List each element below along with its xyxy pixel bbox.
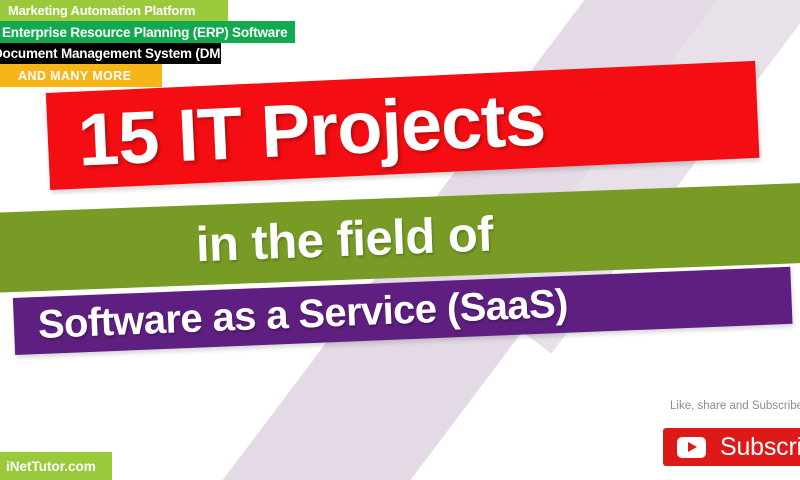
headline-line-3-text: Software as a Service (SaaS) (37, 282, 569, 348)
feature-item-document-management: Document Management System (DMS) (0, 43, 221, 64)
subscribe-button[interactable]: Subscribe (663, 428, 800, 466)
feature-item-label: Document Management System (DMS) (0, 46, 233, 61)
site-watermark-label: iNetTutor.com (6, 459, 96, 474)
headline-line-2-text: in the field of (195, 206, 494, 273)
headline-line-1-text: 15 IT Projects (76, 76, 547, 182)
site-watermark: iNetTutor.com (0, 452, 112, 480)
feature-item-erp-software: Enterprise Resource Planning (ERP) Softw… (0, 21, 295, 43)
feature-item-marketing-automation: Marketing Automation Platform (0, 0, 228, 21)
thumbnail-canvas: Marketing Automation Platform Enterprise… (0, 0, 800, 480)
feature-item-and-many-more: AND MANY MORE (0, 64, 162, 87)
subscribe-caption: Like, share and Subscribe (670, 400, 800, 412)
feature-item-label: Enterprise Resource Planning (ERP) Softw… (2, 25, 287, 40)
youtube-play-icon (677, 437, 706, 458)
subscribe-button-label: Subscribe (720, 433, 800, 462)
feature-item-label: Marketing Automation Platform (8, 3, 195, 18)
feature-item-label: AND MANY MORE (18, 69, 131, 83)
